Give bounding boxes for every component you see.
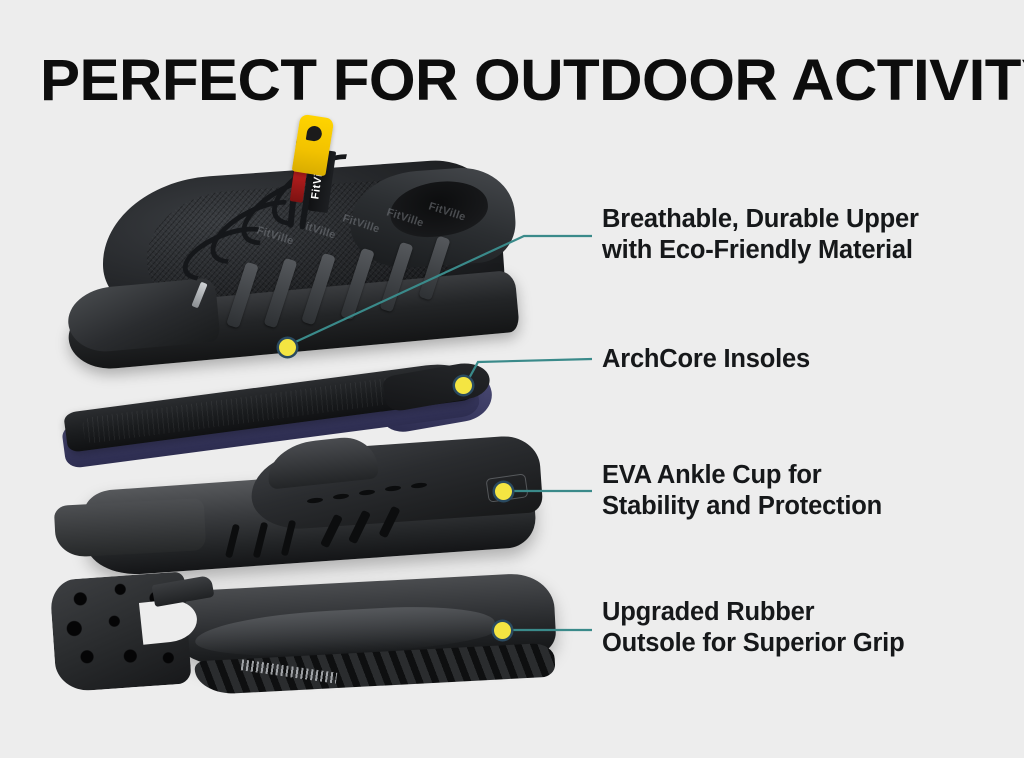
callout-dot-outsole[interactable] bbox=[494, 622, 511, 639]
callout-label-upper-line2: with Eco-Friendly Material bbox=[602, 235, 919, 266]
shoe-layer-outsole bbox=[45, 566, 565, 706]
callout-label-upper-line1: Breathable, Durable Upper bbox=[602, 205, 919, 233]
callout-dot-upper[interactable] bbox=[279, 339, 296, 356]
eva-toe-plate bbox=[54, 498, 207, 558]
callout-label-outsole-line2: Outsole for Superior Grip bbox=[602, 628, 904, 659]
callout-dot-eva[interactable] bbox=[495, 483, 512, 500]
callout-label-insole: ArchCore Insoles bbox=[602, 344, 810, 375]
shoe-layer-upper: FitVille FitVille FitVille FitVille FitV… bbox=[60, 112, 540, 367]
shoe-layer-eva-ankle-cup bbox=[55, 440, 555, 575]
callout-label-upper: Breathable, Durable Upper with Eco-Frien… bbox=[602, 204, 919, 266]
infographic-canvas: PERFECT FOR OUTDOOR ACTIVITY FitVille Fi… bbox=[0, 0, 1024, 758]
callout-label-eva-line1: EVA Ankle Cup for bbox=[602, 461, 822, 489]
callout-dot-insole[interactable] bbox=[455, 377, 472, 394]
callout-label-outsole-line1: Upgraded Rubber bbox=[602, 598, 814, 626]
page-title: PERFECT FOR OUTDOOR ACTIVITY bbox=[40, 52, 1023, 110]
callout-label-eva: EVA Ankle Cup for Stability and Protecti… bbox=[602, 460, 882, 522]
callout-label-outsole: Upgraded Rubber Outsole for Superior Gri… bbox=[602, 597, 904, 659]
callout-label-eva-line2: Stability and Protection bbox=[602, 491, 882, 522]
callout-label-insole-line1: ArchCore Insoles bbox=[602, 345, 810, 373]
